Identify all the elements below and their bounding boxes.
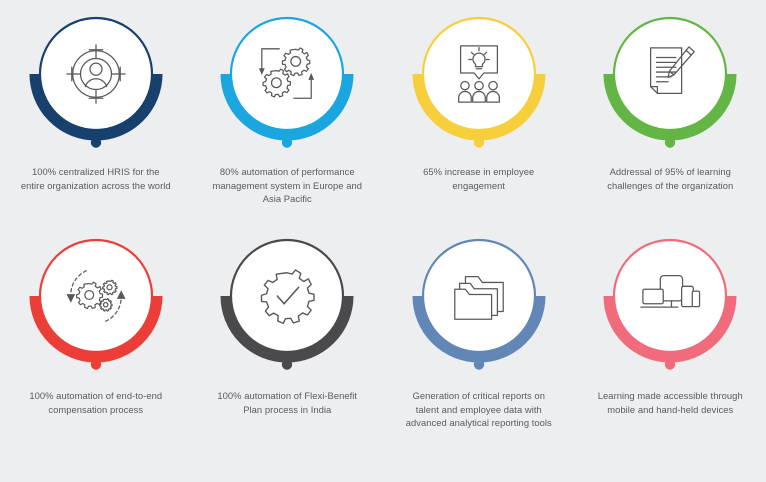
badge-frame [413, 8, 545, 158]
badge-ring [231, 18, 343, 130]
badge-dot [665, 359, 675, 369]
badge-frame [604, 230, 736, 380]
badge-caption: Learning made accessible through mobile … [595, 389, 745, 416]
badge-dot [91, 359, 101, 369]
badge-dot [474, 137, 484, 147]
badge-dot [282, 137, 292, 147]
badge-mobile-learning[interactable] [604, 230, 736, 380]
badge-cell-flexi-benefit-plan[interactable]: 100% automation of Flexi-Benefit Plan pr… [192, 230, 384, 460]
badge-ring [231, 240, 343, 352]
badge-performance-management-automation[interactable] [221, 8, 353, 158]
badge-frame [221, 8, 353, 158]
badge-frame [413, 230, 545, 380]
badge-ring [40, 18, 152, 130]
badge-dot [91, 137, 101, 147]
badge-ring [614, 240, 726, 352]
badge-dot [282, 359, 292, 369]
badge-flexi-benefit-plan[interactable] [221, 230, 353, 380]
badge-cell-critical-reports[interactable]: Generation of critical reports on talent… [383, 230, 575, 460]
badge-caption: 100% centralized HRIS for the entire org… [21, 165, 171, 192]
infographic-board: 100% centralized HRIS for the entire org… [0, 0, 766, 482]
badge-learning-challenges[interactable] [604, 8, 736, 158]
badge-caption: Addressal of 95% of learning challenges … [595, 165, 745, 192]
badge-cell-employee-engagement[interactable]: 65% increase in employee engagement [383, 8, 575, 230]
badge-caption: 65% increase in employee engagement [404, 165, 554, 192]
badge-grid: 100% centralized HRIS for the entire org… [0, 0, 766, 460]
badge-caption: 80% automation of performance management… [212, 165, 362, 206]
badge-cell-learning-challenges[interactable]: Addressal of 95% of learning challenges … [575, 8, 766, 230]
badge-caption: 100% automation of end-to-end compensati… [21, 389, 171, 416]
badge-employee-engagement[interactable] [413, 8, 545, 158]
badge-dot [665, 137, 675, 147]
badge-ring [614, 18, 726, 130]
badge-cell-centralized-hris[interactable]: 100% centralized HRIS for the entire org… [0, 8, 192, 230]
badge-frame [221, 230, 353, 380]
badge-cell-performance-management-automation[interactable]: 80% automation of performance management… [192, 8, 384, 230]
badge-frame [30, 230, 162, 380]
badge-critical-reports[interactable] [413, 230, 545, 380]
badge-centralized-hris[interactable] [30, 8, 162, 158]
badge-compensation-automation[interactable] [30, 230, 162, 380]
badge-ring [423, 240, 535, 352]
badge-cell-compensation-automation[interactable]: 100% automation of end-to-end compensati… [0, 230, 192, 460]
badge-dot [474, 359, 484, 369]
badge-ring [423, 18, 535, 130]
badge-caption: Generation of critical reports on talent… [404, 389, 554, 430]
badge-caption: 100% automation of Flexi-Benefit Plan pr… [212, 389, 362, 416]
badge-frame [30, 8, 162, 158]
badge-frame [604, 8, 736, 158]
badge-cell-mobile-learning[interactable]: Learning made accessible through mobile … [575, 230, 766, 460]
badge-ring [40, 240, 152, 352]
